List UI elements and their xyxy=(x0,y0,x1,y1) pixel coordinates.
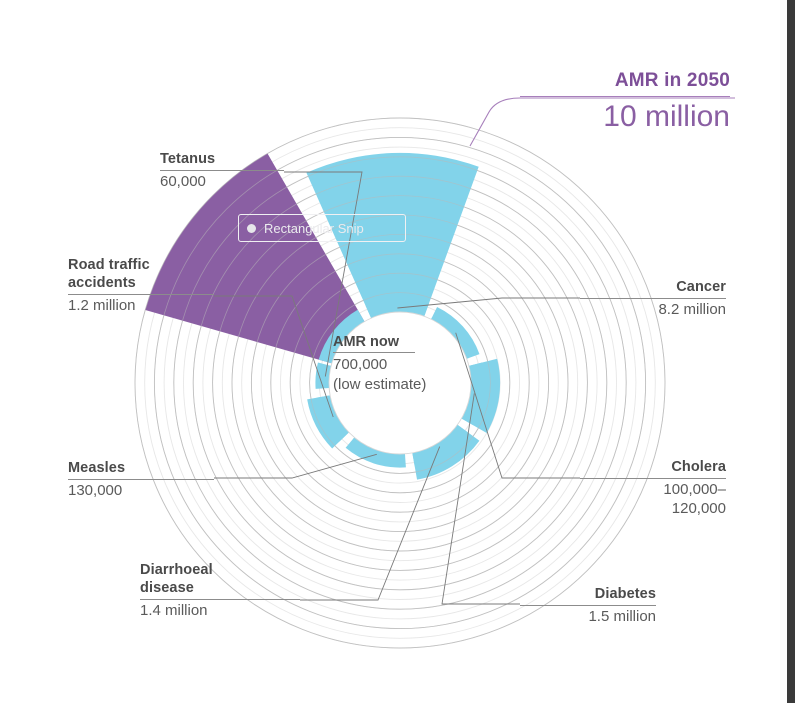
callout-rule xyxy=(520,96,730,97)
category-title: Measles xyxy=(68,459,214,477)
category-label-measles: Measles 130,000 xyxy=(68,459,214,501)
category-label-tetanus: Tetanus 60,000 xyxy=(160,150,284,192)
category-value: 1.5 million xyxy=(520,608,656,627)
category-title-line2: accidents xyxy=(68,274,214,292)
category-title: Diarrhoeal xyxy=(140,561,300,579)
center-label-value-1: 700,000 xyxy=(333,355,457,375)
center-label-rule xyxy=(333,352,415,353)
category-value: 130,000 xyxy=(68,482,214,501)
chart-page: Rectangular Snip AMR in 2050 10 million … xyxy=(0,0,795,703)
center-label-title: AMR now xyxy=(333,334,457,350)
category-value-line2: 120,000 xyxy=(580,500,726,519)
category-label-cholera: Cholera 100,000– 120,000 xyxy=(580,458,726,519)
watermark-label: Rectangular Snip xyxy=(264,221,364,236)
category-label-diarrhoeal-disease: Diarrhoeal disease 1.4 million xyxy=(140,561,300,621)
category-title: Cholera xyxy=(580,458,726,476)
category-value: 1.4 million xyxy=(140,602,300,621)
category-value: 100,000– xyxy=(580,481,726,500)
category-rule xyxy=(520,605,656,606)
category-rule xyxy=(140,599,300,600)
category-value: 8.2 million xyxy=(580,301,726,320)
category-rule xyxy=(580,478,726,479)
category-value: 60,000 xyxy=(160,173,284,192)
category-rule xyxy=(68,294,214,295)
callout-title: AMR in 2050 xyxy=(520,70,730,92)
category-title: Diabetes xyxy=(520,585,656,603)
page-edge-strip xyxy=(787,0,795,703)
category-label-road-traffic-accidents: Road traffic accidents 1.2 million xyxy=(68,256,214,316)
callout-amr-2050: AMR in 2050 10 million xyxy=(520,70,730,133)
category-title: Tetanus xyxy=(160,150,284,168)
watermark: Rectangular Snip xyxy=(238,214,406,242)
center-label-value-2: (low estimate) xyxy=(333,375,457,395)
record-dot-icon xyxy=(247,224,256,233)
category-label-diabetes: Diabetes 1.5 million xyxy=(520,585,656,627)
category-label-cancer: Cancer 8.2 million xyxy=(580,278,726,320)
center-label-amr-now: AMR now 700,000 (low estimate) xyxy=(333,334,457,394)
category-title-line2: disease xyxy=(140,579,300,597)
category-value: 1.2 million xyxy=(68,297,214,316)
callout-value: 10 million xyxy=(520,100,730,133)
category-rule xyxy=(580,298,726,299)
category-title: Road traffic xyxy=(68,256,214,274)
category-rule xyxy=(160,170,284,171)
category-rule xyxy=(68,479,214,480)
category-title: Cancer xyxy=(580,278,726,296)
